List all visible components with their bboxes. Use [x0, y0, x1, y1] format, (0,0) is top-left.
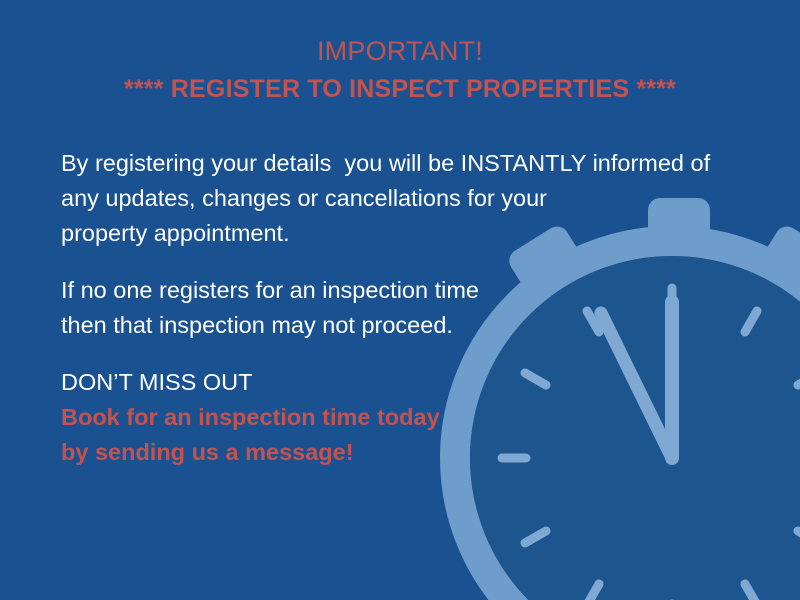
dont-miss-out-line: DON’T MISS OUT	[61, 365, 741, 400]
paragraph-no-registration: If no one registers for an inspection ti…	[61, 273, 741, 343]
send-message-line: by sending us a message!	[61, 435, 741, 470]
paragraph-registering: By registering your details you will be …	[61, 146, 741, 251]
body-line: any updates, changes or cancellations fo…	[61, 181, 741, 216]
body-block: By registering your details you will be …	[61, 146, 741, 470]
paragraph-call-to-action: DON’T MISS OUT Book for an inspection ti…	[61, 365, 741, 470]
page-subtitle: **** REGISTER TO INSPECT PROPERTIES ****	[0, 71, 800, 107]
book-inspection-line: Book for an inspection time today	[61, 400, 741, 435]
body-line: By registering your details you will be …	[61, 146, 741, 181]
body-line: property appointment.	[61, 216, 741, 251]
page-title: IMPORTANT!	[0, 34, 800, 68]
text-layer: IMPORTANT! **** REGISTER TO INSPECT PROP…	[0, 0, 800, 600]
slide-canvas: IMPORTANT! **** REGISTER TO INSPECT PROP…	[0, 0, 800, 600]
body-line: then that inspection may not proceed.	[61, 308, 741, 343]
body-line: If no one registers for an inspection ti…	[61, 273, 741, 308]
header-block: IMPORTANT! **** REGISTER TO INSPECT PROP…	[0, 34, 800, 107]
